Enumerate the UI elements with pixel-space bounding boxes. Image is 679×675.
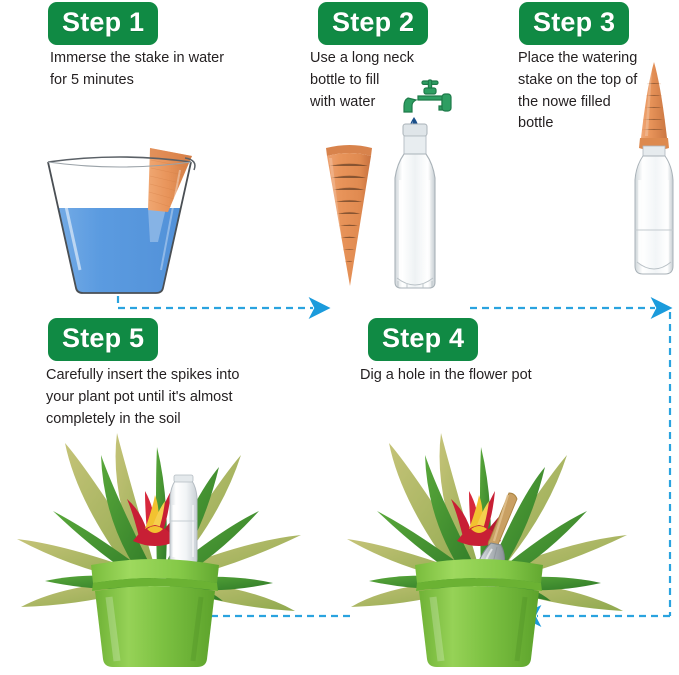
terracotta-cone-illustration [320,140,380,290]
faucet-body [404,80,451,112]
beaker-water [40,208,210,303]
infographic-canvas: Step 1 Immerse the stake in water for 5 … [0,0,679,675]
step-text-5: Carefully insert the spikes into your pl… [46,365,296,430]
assembled-stake-bottle-illustration [628,60,679,290]
bottle-inverted [635,146,673,274]
stake-cone-top [639,62,669,151]
step-badge-5: Step 5 [48,318,158,361]
step-badge-1: Step 1 [48,2,158,45]
water-bottle-illustration [385,120,445,295]
terracotta-cone [326,145,372,286]
step-badge-3: Step 3 [519,2,629,45]
step-badge-4: Step 4 [368,318,478,361]
step-text-1: Immerse the stake in water for 5 minutes [50,48,300,92]
beaker-illustration [30,130,260,300]
step-text-4: Dig a hole in the flower pot [360,365,620,387]
flower-pot [415,559,543,667]
step-badge-2: Step 2 [318,2,428,45]
potted-plant-with-stake-illustration [5,425,335,675]
potted-plant-with-trowel-illustration [345,425,675,675]
bottle-body [395,124,435,288]
flower-pot [91,559,219,667]
